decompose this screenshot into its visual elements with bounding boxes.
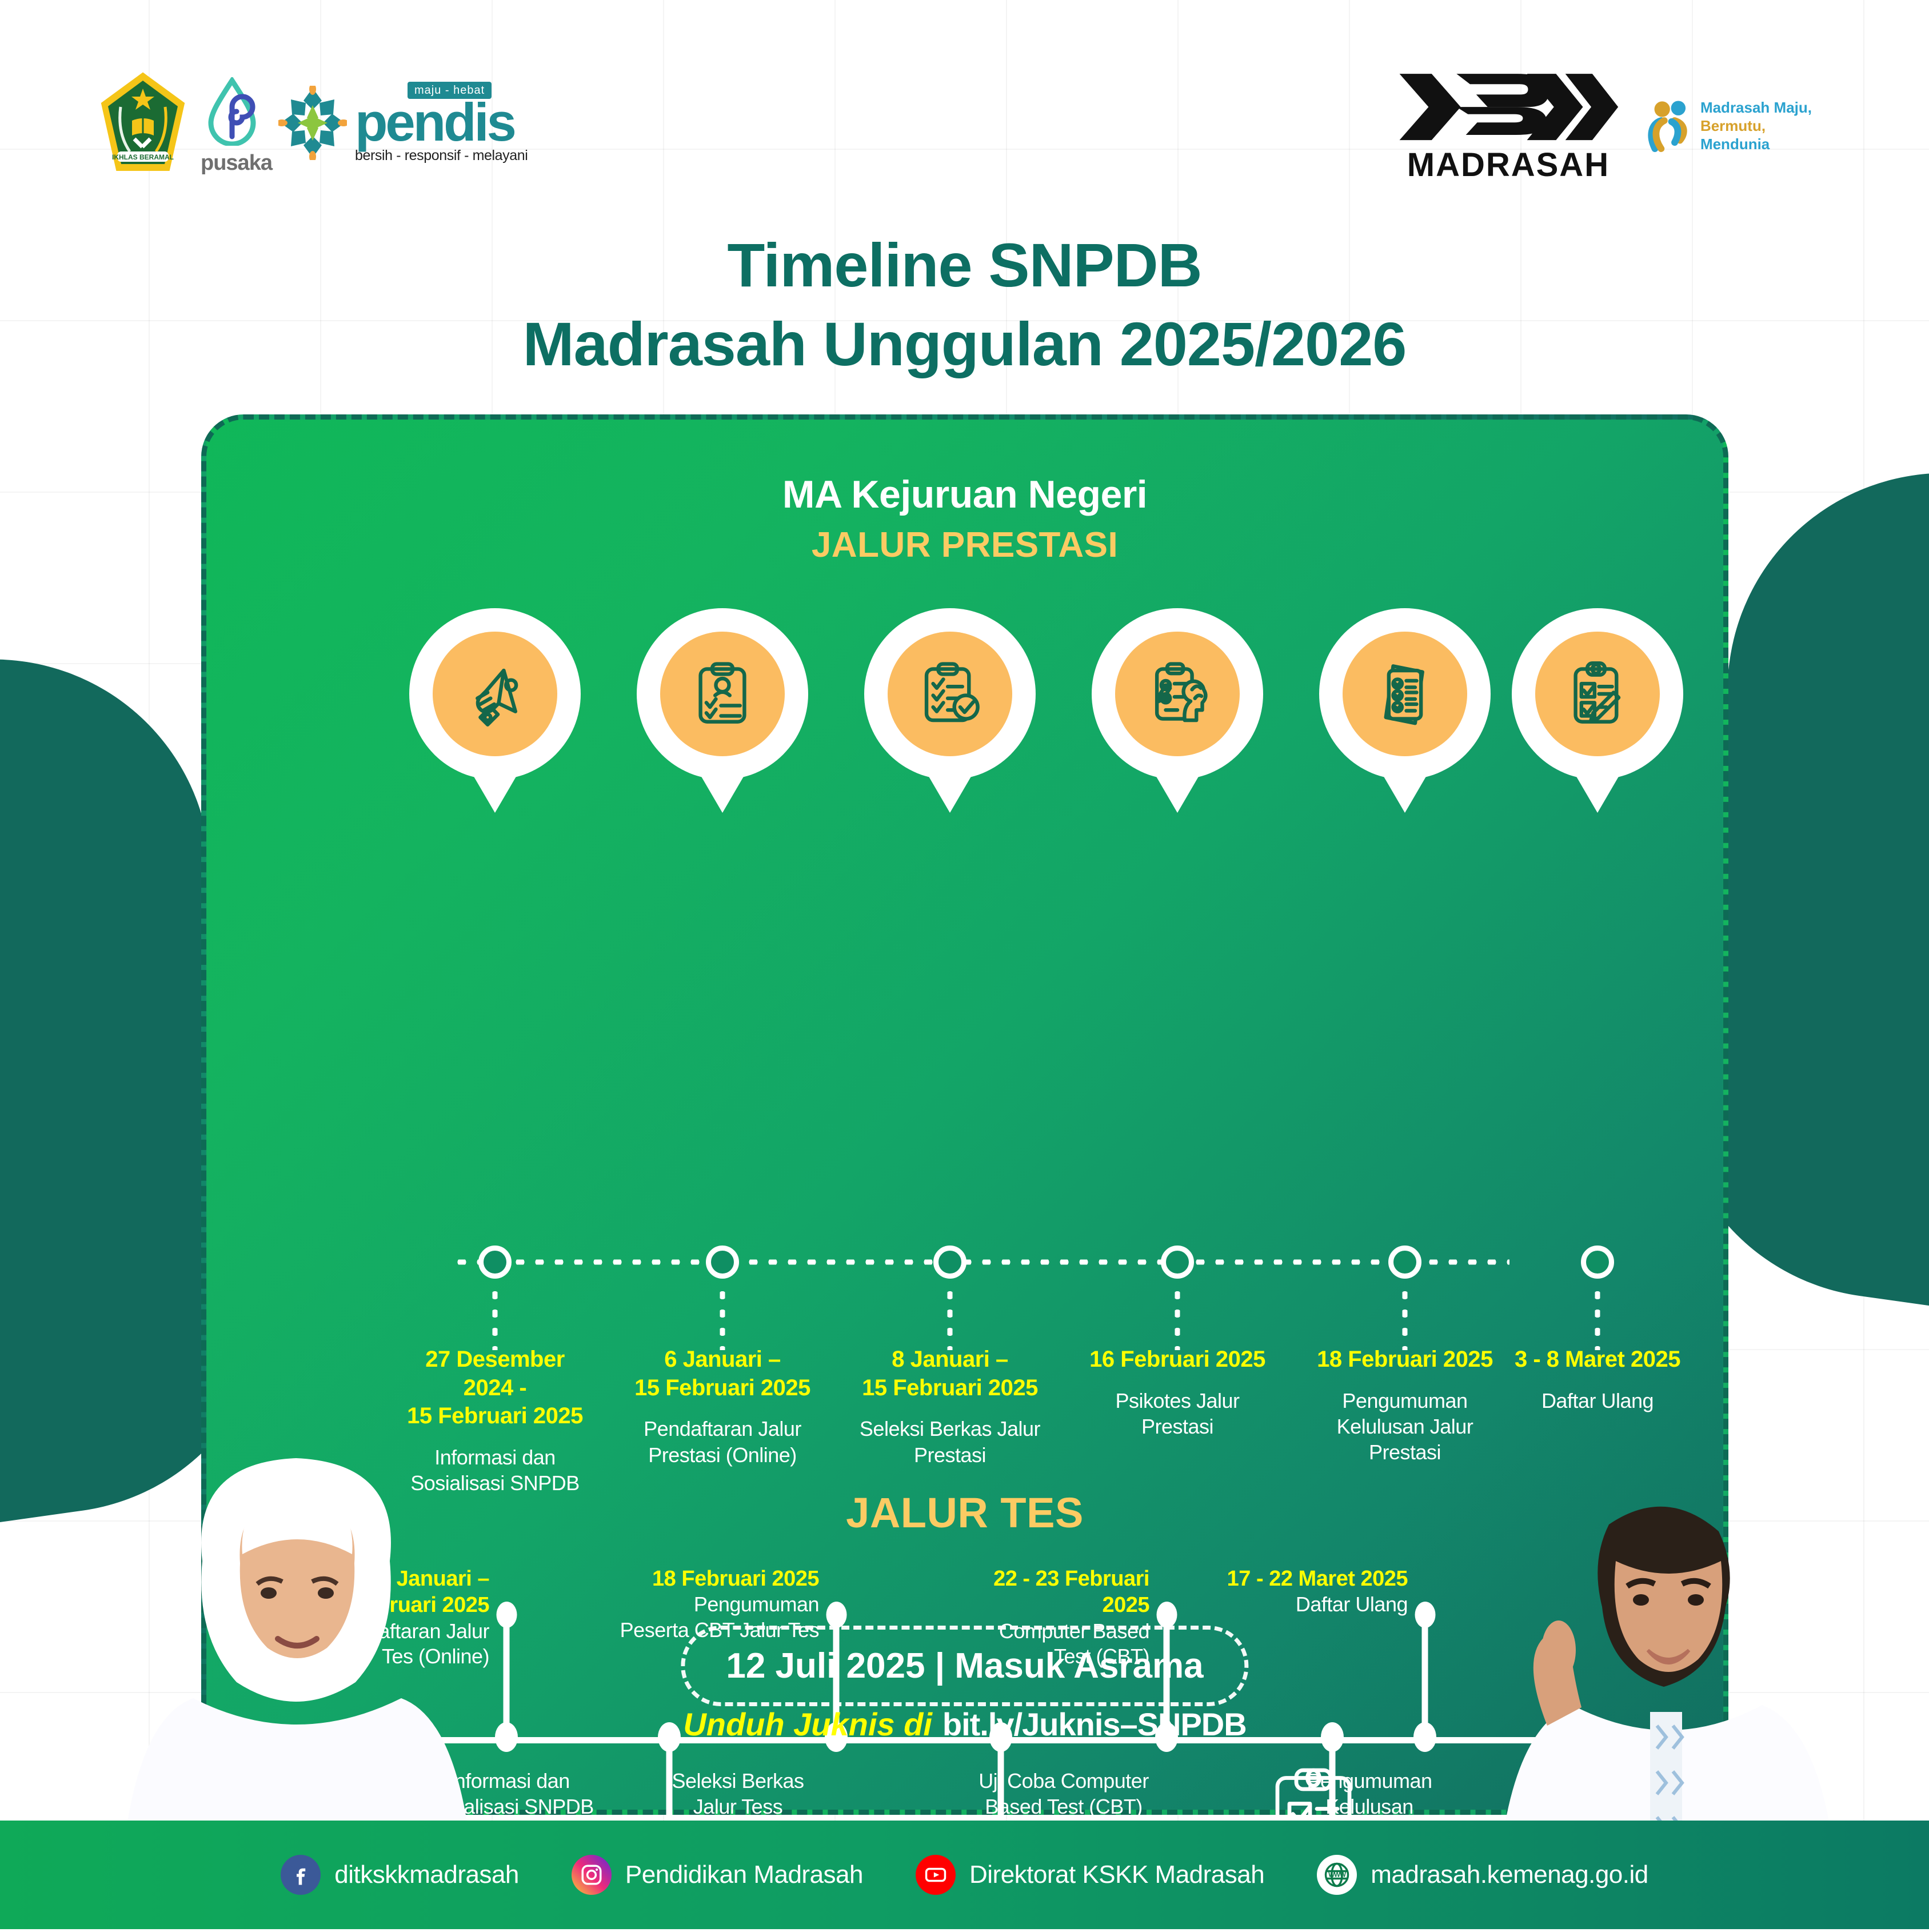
tes-above-desc-4: Daftar Ulang <box>1162 1592 1408 1618</box>
prestasi-label-3: 8 Januari –15 Februari 2025 Seleksi Berk… <box>856 1346 1044 1468</box>
tes-below-desc-3: Uji Coba ComputerBased Test (CBT) <box>941 1769 1187 1819</box>
tes-node-1 <box>658 1722 681 1752</box>
footer-item-instagram[interactable]: Pendidikan Madrasah <box>572 1855 863 1895</box>
prestasi-desc-4: Psikotes JalurPrestasi <box>1083 1388 1272 1440</box>
mmbm-line-1: Madrasah Maju, <box>1700 99 1812 117</box>
tes-above-date-2: 18 Februari 2025 <box>573 1566 819 1592</box>
prestasi-node-2 <box>706 1246 739 1279</box>
tes-stem-up-4 <box>1422 1614 1428 1737</box>
kemenag-motto: IKHLAS BERAMAL <box>112 153 174 161</box>
prestasi-label-2: 6 Januari –15 Februari 2025 Pendaftaran … <box>628 1346 817 1468</box>
header-logos-right: MADRASAH Madrasah Maju, Bermutu, Menduni… <box>1394 69 1812 184</box>
page-title: Timeline SNPDB Madrasah Unggulan 2025/20… <box>0 226 1929 384</box>
mmbm-line-2: Bermutu, <box>1700 117 1812 135</box>
card-subheading: JALUR PRESTASI <box>206 525 1723 565</box>
prestasi-node-4 <box>1161 1246 1194 1279</box>
prestasi-node-6 <box>1581 1246 1614 1279</box>
card-heading-block: MA Kejuruan Negeri JALUR PRESTASI <box>206 420 1723 565</box>
tes-node-3 <box>1321 1722 1344 1752</box>
prestasi-dotted-stem-6 <box>1595 1286 1600 1350</box>
svg-text:WWW: WWW <box>1328 1871 1347 1878</box>
form-registration-icon <box>660 632 785 756</box>
prestasi-dotted-stem-3 <box>948 1286 953 1350</box>
madrasah-maju-logo: Madrasah Maju, Bermutu, Mendunia <box>1646 98 1812 155</box>
prestasi-node-1 <box>478 1246 512 1279</box>
header-logos-left: IKHLAS BERAMAL pusaka <box>100 71 528 174</box>
pin-bubble <box>409 608 581 780</box>
facebook-icon <box>281 1855 321 1895</box>
footer-social-bar: ditkskkmadrasah Pendidikan Madrasah Dire… <box>0 1821 1929 1929</box>
pin-bubble <box>1319 608 1491 780</box>
two-people-icon <box>1646 98 1692 155</box>
footer-label-youtube: Direktorat KSKK Madrasah <box>969 1861 1264 1889</box>
pusaka-label: pusaka <box>201 151 263 175</box>
prestasi-label-4: 16 Februari 2025 Psikotes JalurPrestasi <box>1083 1346 1272 1439</box>
prestasi-pin-6 <box>1512 608 1683 780</box>
footer-label-website: madrasah.kemenag.go.id <box>1371 1861 1648 1889</box>
prestasi-dotted-stem-2 <box>720 1286 725 1350</box>
prestasi-connector <box>452 1260 1509 1264</box>
page-title-line-2: Madrasah Unggulan 2025/2026 <box>0 305 1929 384</box>
madrasah-chevron-icon <box>1394 69 1623 146</box>
tes-below-desc-2: Seleksi BerkasJalur Tess <box>615 1769 861 1819</box>
prestasi-label-6: 3 - 8 Maret 2025 Daftar Ulang <box>1503 1346 1692 1414</box>
prestasi-pin-row <box>206 608 1723 928</box>
madrasah-wordmark: MADRASAH <box>1394 146 1623 184</box>
prestasi-dotted-stem-5 <box>1403 1286 1408 1350</box>
tes-node-4 <box>1413 1722 1436 1752</box>
footer-item-facebook[interactable]: ditkskkmadrasah <box>281 1855 519 1895</box>
prestasi-node-5 <box>1388 1246 1421 1279</box>
prestasi-pin-2 <box>637 608 808 780</box>
instagram-icon <box>572 1855 612 1895</box>
page-title-line-1: Timeline SNPDB <box>0 226 1929 305</box>
tes-above-date-3: 22 - 23 Februari2025 <box>904 1566 1149 1619</box>
pendis-ornament-icon <box>278 86 347 160</box>
pin-bubble <box>1512 608 1683 780</box>
prestasi-pin-3 <box>864 608 1036 780</box>
masuk-asrama-badge: 12 Juli 2025 | Masuk Asrama <box>681 1626 1248 1706</box>
prestasi-dotted-stem-4 <box>1175 1286 1180 1350</box>
unduh-juknis: Unduh Juknis dibit.ly/Juknis–SNPDB <box>683 1706 1246 1743</box>
prestasi-desc-3: Seleksi Berkas JalurPrestasi <box>856 1416 1044 1468</box>
kemenag-logo: IKHLAS BERAMAL <box>100 71 186 174</box>
pendis-wordmark: pendis <box>355 100 528 144</box>
dotted-line <box>452 1260 1509 1265</box>
pin-bubble <box>1092 608 1263 780</box>
prestasi-date-1: 27 Desember 2024 -15 Februari 2025 <box>401 1346 589 1431</box>
prestasi-desc-2: Pendaftaran JalurPrestasi (Online) <box>628 1416 817 1468</box>
prestasi-desc-6: Daftar Ulang <box>1503 1388 1692 1414</box>
pendis-logo: maju - hebat pendis bersih - responsif -… <box>278 82 528 164</box>
mmbm-line-3: Mendunia <box>1700 135 1812 154</box>
prestasi-node-3 <box>933 1246 967 1279</box>
footer-label-instagram: Pendidikan Madrasah <box>625 1861 863 1889</box>
madrasah-logo: MADRASAH <box>1394 69 1623 184</box>
prestasi-pin-4 <box>1092 608 1263 780</box>
footer-label-facebook: ditkskkmadrasah <box>334 1861 519 1889</box>
card-heading: MA Kejuruan Negeri <box>206 472 1723 517</box>
footer-item-youtube[interactable]: Direktorat KSKK Madrasah <box>916 1855 1264 1895</box>
checklist-approved-icon <box>888 632 1012 756</box>
pin-bubble <box>637 608 808 780</box>
unduh-link[interactable]: bit.ly/Juknis–SNPDB <box>942 1706 1247 1742</box>
prestasi-pin-5 <box>1319 608 1491 780</box>
prestasi-dotted-stem-1 <box>493 1286 498 1350</box>
footer-item-website[interactable]: WWW madrasah.kemenag.go.id <box>1317 1855 1648 1895</box>
pendis-tagline: bersih - responsif - melayani <box>355 147 528 164</box>
documents-list-icon <box>1343 632 1467 756</box>
globe-www-icon: WWW <box>1317 1855 1357 1895</box>
prestasi-date-2: 6 Januari –15 Februari 2025 <box>628 1346 817 1402</box>
pusaka-logo: pusaka <box>201 77 263 169</box>
unduh-label: Unduh Juknis di <box>683 1706 932 1742</box>
tes-above-date-4: 17 - 22 Maret 2025 <box>1162 1566 1408 1592</box>
pin-bubble <box>864 608 1036 780</box>
youtube-icon <box>916 1855 956 1895</box>
tes-above-label-4: 17 - 22 Maret 2025 Daftar Ulang <box>1162 1566 1408 1618</box>
megaphone-icon <box>433 632 557 756</box>
prestasi-date-3: 8 Januari –15 Februari 2025 <box>856 1346 1044 1402</box>
clipboard-pen-icon <box>1535 632 1660 756</box>
prestasi-pin-1 <box>409 608 581 780</box>
psychology-test-icon <box>1115 632 1240 756</box>
